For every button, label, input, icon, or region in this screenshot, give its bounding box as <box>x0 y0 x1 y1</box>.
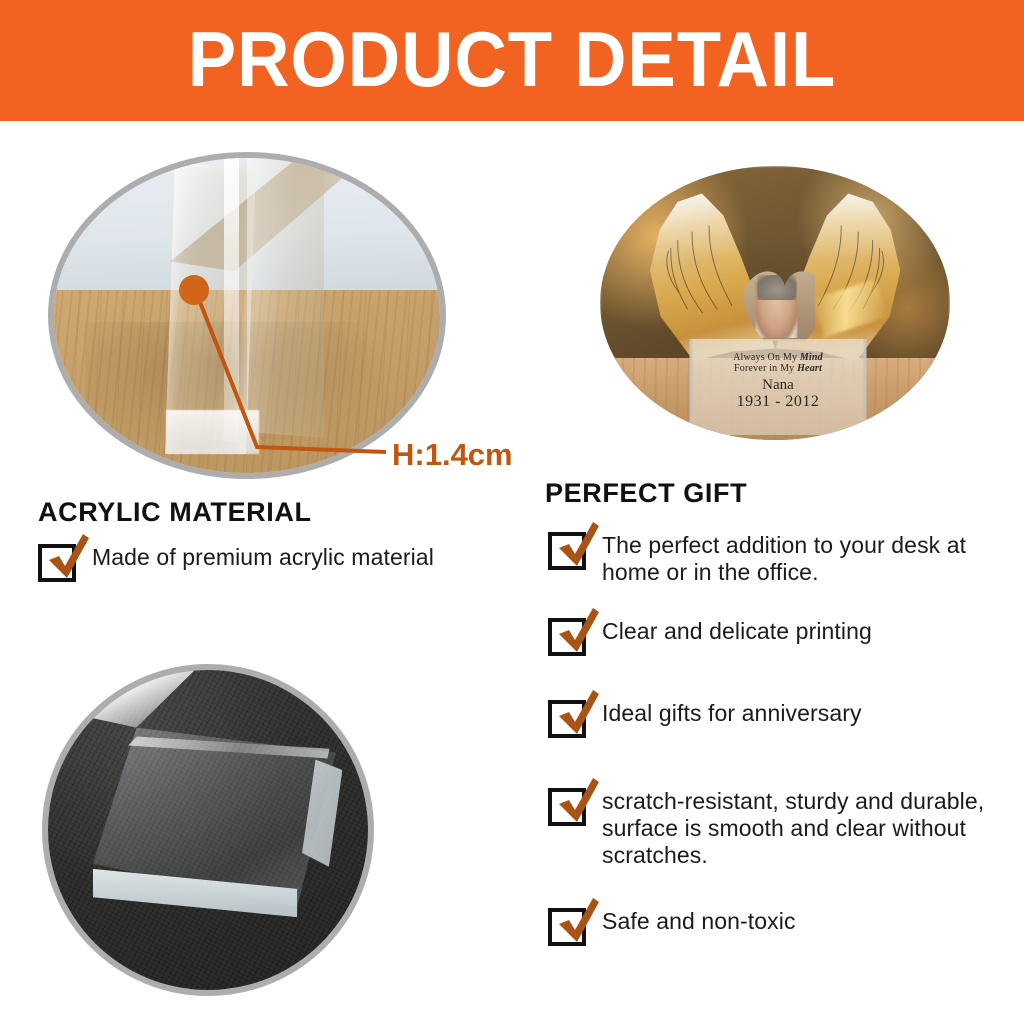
engraving-script-mind: Mind <box>800 352 823 363</box>
list-item-label: The perfect addition to your desk at hom… <box>602 532 1003 586</box>
check-mark-icon <box>549 606 603 658</box>
section-heading-perfect-gift: PERFECT GIFT <box>545 478 747 509</box>
list-item-label: Ideal gifts for anniversary <box>602 700 862 727</box>
acrylic-slab-photo <box>42 664 374 996</box>
portrait-hair <box>757 275 796 301</box>
acrylic-block-edge-photo <box>48 152 446 479</box>
engraving-dates: 1931 - 2012 <box>693 393 864 411</box>
page-title: PRODUCT DETAIL <box>36 0 988 121</box>
plaque-base: Always On My Mind Forever in My Heart Na… <box>690 339 867 435</box>
list-item: The perfect addition to your desk at hom… <box>548 532 1003 586</box>
plaque-body: Always On My Mind Forever in My Heart Na… <box>646 182 905 434</box>
engraving-line-1: Always On My Mind <box>693 352 864 363</box>
list-item-label: Safe and non-toxic <box>602 908 796 935</box>
check-mark-icon <box>39 532 93 584</box>
checkbox-icon <box>548 618 586 656</box>
block-base-reflection <box>166 410 259 454</box>
checkbox-icon <box>548 532 586 570</box>
check-mark-icon <box>549 520 603 572</box>
engraved-text-block: Always On My Mind Forever in My Heart Na… <box>693 352 864 411</box>
list-item: Clear and delicate printing <box>548 618 1003 656</box>
block-side-face <box>247 158 324 438</box>
list-item-label: scratch-resistant, sturdy and durable, s… <box>602 788 1008 869</box>
product-detail-infographic: PRODUCT DETAIL <box>0 0 1024 1024</box>
section-heading-acrylic-material: ACRYLIC MATERIAL <box>38 497 312 528</box>
list-item: Made of premium acrylic material <box>38 544 518 582</box>
checkbox-icon <box>548 700 586 738</box>
checkbox-icon <box>38 544 76 582</box>
height-callout-label: H:1.4cm <box>392 437 513 473</box>
list-item: scratch-resistant, sturdy and durable, s… <box>548 788 1008 869</box>
list-item: Safe and non-toxic <box>548 908 1003 946</box>
list-item-label: Clear and delicate printing <box>602 618 872 645</box>
engraving-script-heart: Heart <box>797 363 822 374</box>
list-item: Ideal gifts for anniversary <box>548 700 1003 738</box>
check-mark-icon <box>549 688 603 740</box>
engraving-name: Nana <box>693 377 864 394</box>
check-mark-icon <box>549 896 603 948</box>
block-highlight <box>224 158 239 442</box>
header-banner: PRODUCT DETAIL <box>0 0 1024 121</box>
list-item-label: Made of premium acrylic material <box>92 544 434 571</box>
checkbox-icon <box>548 908 586 946</box>
angel-wings-heart-plaque-photo: Always On My Mind Forever in My Heart Na… <box>600 166 950 440</box>
checkbox-icon <box>548 788 586 826</box>
engraving-line-2: Forever in My Heart <box>693 363 864 374</box>
check-mark-icon <box>549 776 603 828</box>
